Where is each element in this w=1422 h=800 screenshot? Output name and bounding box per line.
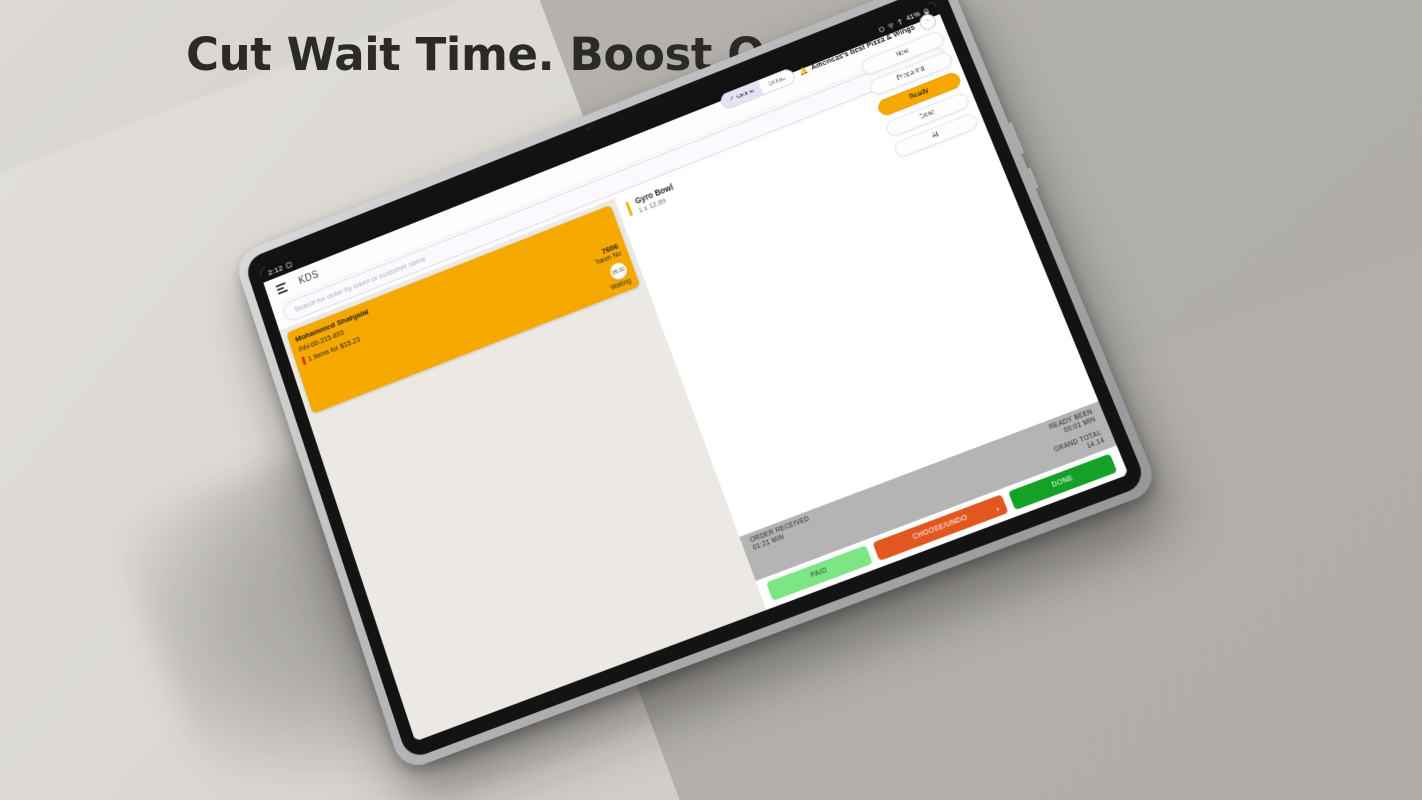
done-button[interactable]: DONE [1008,454,1117,511]
grand-total-value: 14.14 [1086,437,1106,451]
paid-button[interactable]: PAID [766,545,872,601]
grand-total-block: GRAND TOTAL 14.14 [1053,429,1106,462]
tablet-frame: 2:12 41% [233,0,1160,772]
main-content: Mohammed Shahjalal INV-66-315-893 1 item… [279,62,1128,741]
order-received-block: ORDER RECEIVED 01:21 MIN [749,515,814,552]
hamburger-menu-icon[interactable] [276,282,288,294]
front-camera-icon [587,127,591,131]
chevron-down-icon: ▾ [996,506,1001,513]
order-timers-row: ORDER RECEIVED 01:21 MIN READY BEEN 00:0… [739,401,1108,560]
line-item-accent-icon [625,201,633,216]
order-action-row: PAID CHOOSE/UNDO ▾ DONE [756,445,1129,610]
tablet-bezel: 2:12 41% [243,0,1147,760]
choose-undo-label: CHOOSE/UNDO [912,514,969,541]
order-status-badge: Waiting [610,278,632,292]
tablet-screen: 2:12 41% [259,1,1129,742]
order-received-label: ORDER RECEIVED [749,515,811,545]
screenshot-icon [285,261,293,270]
grand-total-label: GRAND TOTAL [1053,429,1103,454]
order-received-value: 01:21 MIN [752,523,814,553]
connection-online-label: Online [736,87,755,100]
ready-been-label: READY BEEN [1048,408,1094,432]
scene: Cut Wait Time. Boost Output. 2:12 [0,0,1422,800]
check-icon: ✓ [728,95,735,103]
choose-undo-button[interactable]: CHOOSE/UNDO ▾ [872,494,1008,561]
tablet-device: 2:12 41% [282,88,1142,708]
connection-offline-label: Offline [767,75,786,88]
order-detail-footer: ORDER RECEIVED 01:21 MIN READY BEEN 00:0… [739,401,1128,610]
ready-been-value: 00:01 MIN [1063,416,1098,436]
ready-been-block: READY BEEN 00:01 MIN [1048,408,1097,440]
notification-bell-icon[interactable]: 🔔 [798,66,809,76]
app-title: KDS [297,269,320,286]
grand-total-row: GRAND TOTAL 14.14 [748,424,1117,581]
